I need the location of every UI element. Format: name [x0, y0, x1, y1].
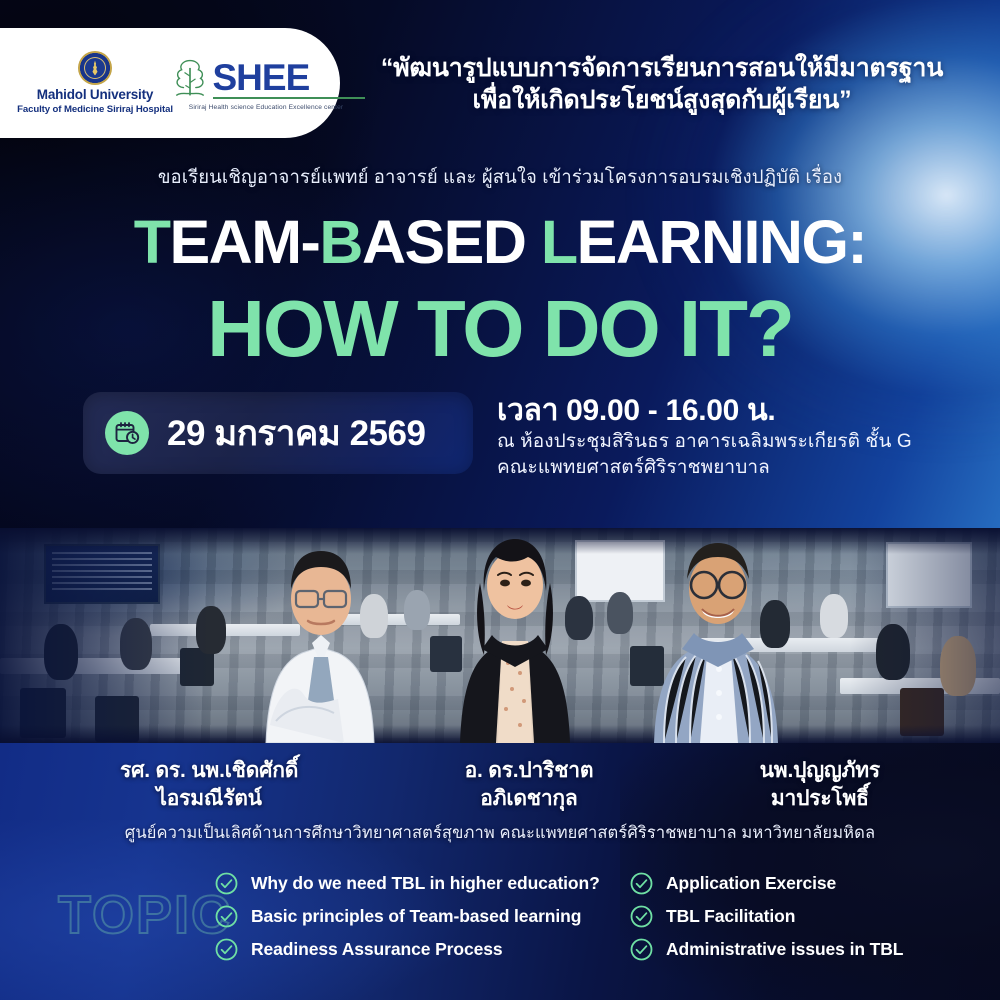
topic-label: Readiness Assurance Process — [251, 939, 503, 960]
speaker-2-figure — [440, 513, 590, 743]
calendar-clock-glyph — [114, 420, 140, 446]
topic-item: TBL Facilitation — [630, 905, 903, 928]
speaker-3-figure — [628, 521, 808, 743]
topic-item: Why do we need TBL in higher education? — [215, 872, 630, 895]
speaker-portrait-3 — [628, 521, 808, 743]
topic-column-right: Application Exercise TBL Facilitation Ad… — [630, 872, 903, 961]
topic-label: Administrative issues in TBL — [666, 939, 903, 960]
event-date: 29 มกราคม 2569 — [167, 406, 425, 461]
mahidol-logo: Mahidol University Faculty of Medicine S… — [20, 51, 170, 114]
shee-divider — [213, 97, 365, 99]
title-highlight-t: T — [134, 208, 170, 276]
event-title-line-1: TEAM-BASED LEARNING: — [0, 207, 1000, 277]
check-circle-icon — [215, 905, 238, 928]
check-circle-icon — [630, 905, 653, 928]
topic-label: Application Exercise — [666, 873, 836, 894]
check-circle-icon — [215, 938, 238, 961]
shee-logo: SHEE Siriraj Health science Education Ex… — [186, 56, 346, 111]
speaker-portrait-2 — [440, 513, 590, 743]
check-circle-icon — [630, 872, 653, 895]
logo-pill: Mahidol University Faculty of Medicine S… — [0, 28, 340, 138]
topic-item: Administrative issues in TBL — [630, 938, 903, 961]
topic-column-left: Why do we need TBL in higher education? … — [215, 872, 630, 961]
title-text-ased: ASED — [362, 208, 541, 276]
topic-label: Basic principles of Team-based learning — [251, 906, 581, 927]
tagline-line-1: “พัฒนารูปแบบการจัดการเรียนการสอนให้มีมาต… — [352, 52, 972, 84]
topic-list: Why do we need TBL in higher education? … — [215, 872, 975, 961]
speaker-2-line-2: อภิเดชากุล — [465, 785, 594, 813]
speaker-name-2: อ. ดร.ปาริชาต อภิเดชากุล — [465, 757, 594, 812]
schedule-block: เวลา 09.00 - 16.00 น. ณ ห้องประชุมสิรินธ… — [497, 394, 967, 482]
seated-attendee — [820, 594, 848, 638]
invitation-text: ขอเรียนเชิญอาจารย์แพทย์ อาจารย์ และ ผู้ส… — [0, 163, 1000, 192]
venue-line-1: ณ ห้องประชุมสิรินธร อาคารเฉลิมพระเกียรติ… — [497, 429, 967, 456]
speaker-names: รศ. ดร. นพ.เชิดศักดิ์ ไอรมณีรัตน์ อ. ดร.… — [120, 757, 880, 812]
title-highlight-b: B — [319, 208, 362, 276]
seated-attendee — [404, 590, 430, 630]
speaker-3-line-1: นพ.ปุญญภัทร — [760, 757, 880, 785]
title-text-eam: EAM- — [170, 208, 320, 276]
topic-item: Readiness Assurance Process — [215, 938, 630, 961]
topic-item: Basic principles of Team-based learning — [215, 905, 630, 928]
event-title-line-2: HOW TO DO IT? — [0, 283, 1000, 375]
speaker-2-line-1: อ. ดร.ปาริชาต — [465, 757, 594, 785]
shee-acronym: SHEE — [213, 61, 310, 95]
topic-item: Application Exercise — [630, 872, 903, 895]
speaker-1-figure — [236, 525, 406, 743]
topic-heading: TOPIC — [58, 884, 232, 946]
tree-icon — [168, 56, 212, 100]
band-left-shade — [0, 528, 210, 743]
mahidol-faculty-name: Faculty of Medicine Siriraj Hospital — [17, 104, 173, 115]
organizer-text: ศูนย์ความเป็นเลิศด้านการศึกษาวิทยาศาสตร์… — [0, 820, 1000, 846]
tagline-line-2: เพื่อให้เกิดประโยชน์สูงสุดกับผู้เรียน” — [352, 84, 972, 116]
poster-canvas: Mahidol University Faculty of Medicine S… — [0, 0, 1000, 1000]
venue-line-2: คณะแพทยศาสตร์ศิริราชพยาบาล — [497, 455, 967, 482]
check-circle-icon — [630, 938, 653, 961]
speaker-3-line-2: มาประโพธิ์ — [760, 785, 880, 813]
shee-subtitle: Siriraj Health science Education Excelle… — [189, 102, 343, 111]
title-highlight-l: L — [541, 208, 577, 276]
title-text-earning: EARNING: — [577, 208, 867, 276]
speaker-portrait-1 — [236, 525, 406, 743]
band-right-shade — [850, 528, 1000, 743]
calendar-clock-icon — [105, 411, 149, 455]
mahidol-seal-icon — [78, 51, 112, 85]
speaker-1-line-2: ไอรมณีรัตน์ — [120, 785, 298, 813]
event-time: เวลา 09.00 - 16.00 น. — [497, 394, 967, 429]
speaker-name-1: รศ. ดร. นพ.เชิดศักดิ์ ไอรมณีรัตน์ — [120, 757, 298, 812]
tagline: “พัฒนารูปแบบการจัดการเรียนการสอนให้มีมาต… — [352, 52, 972, 116]
topic-label: Why do we need TBL in higher education? — [251, 873, 600, 894]
topic-label: TBL Facilitation — [666, 906, 795, 927]
shee-logo-row: SHEE — [168, 56, 365, 100]
speaker-name-3: นพ.ปุญญภัทร มาประโพธิ์ — [760, 757, 880, 812]
speaker-1-line-1: รศ. ดร. นพ.เชิดศักดิ์ — [120, 757, 298, 785]
date-badge: 29 มกราคม 2569 — [83, 392, 473, 474]
mahidol-university-name: Mahidol University — [37, 88, 153, 102]
check-circle-icon — [215, 872, 238, 895]
